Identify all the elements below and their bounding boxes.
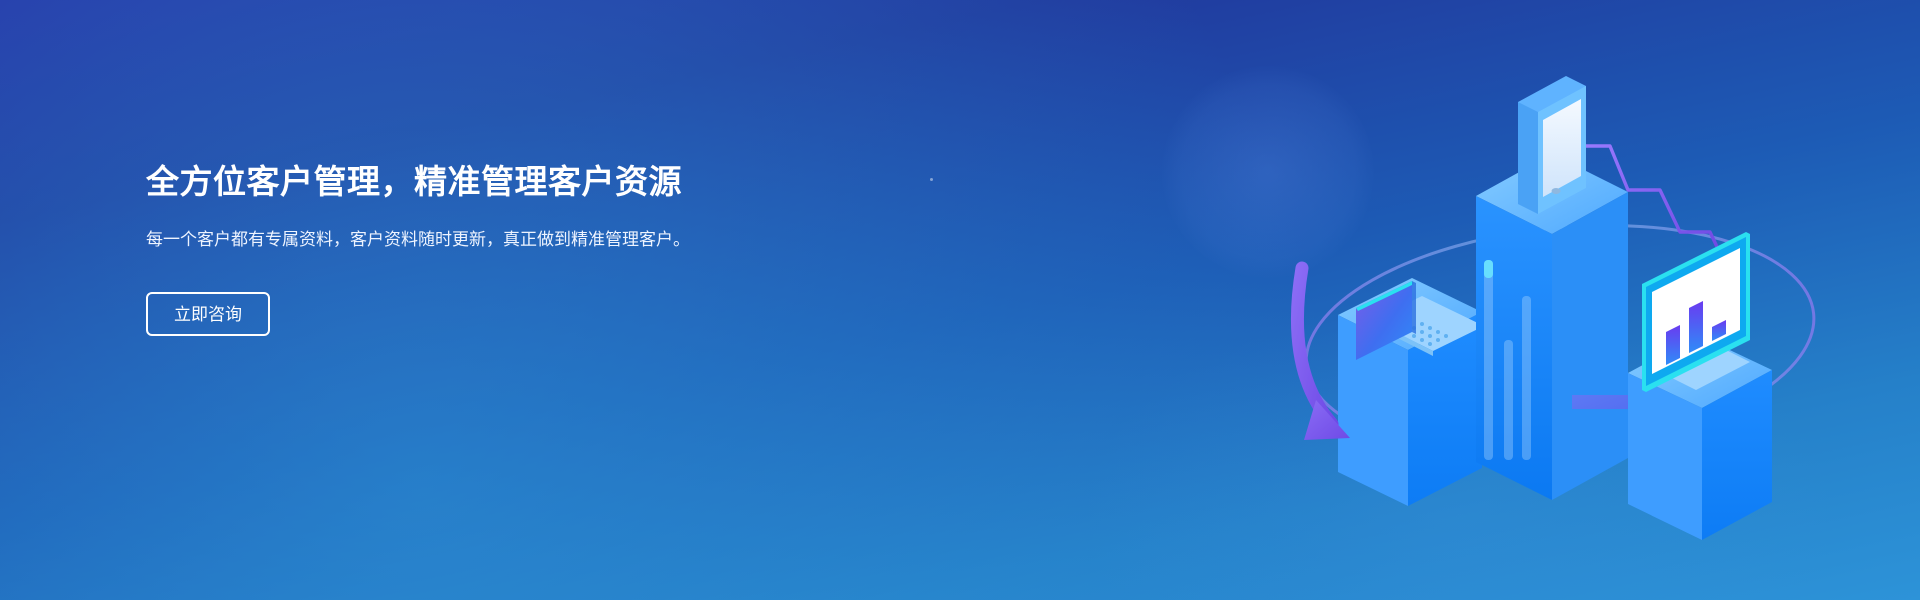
hero-subtitle: 每一个客户都有专属资料，客户资料随时更新，真正做到精准管理客户。: [146, 226, 736, 253]
hero-banner: 全方位客户管理，精准管理客户资源 每一个客户都有专属资料，客户资料随时更新，真正…: [0, 0, 1920, 600]
tablet-icon: [1518, 76, 1586, 214]
hero-illustration: [1280, 40, 1840, 560]
page-title: 全方位客户管理，精准管理客户资源: [146, 160, 786, 204]
hero-copy-block: 全方位客户管理，精准管理客户资源 每一个客户都有专属资料，客户资料随时更新，真正…: [146, 160, 786, 336]
background-dot: [930, 178, 933, 181]
monitor-icon: [1642, 232, 1750, 392]
consult-now-button[interactable]: 立即咨询: [146, 292, 270, 336]
